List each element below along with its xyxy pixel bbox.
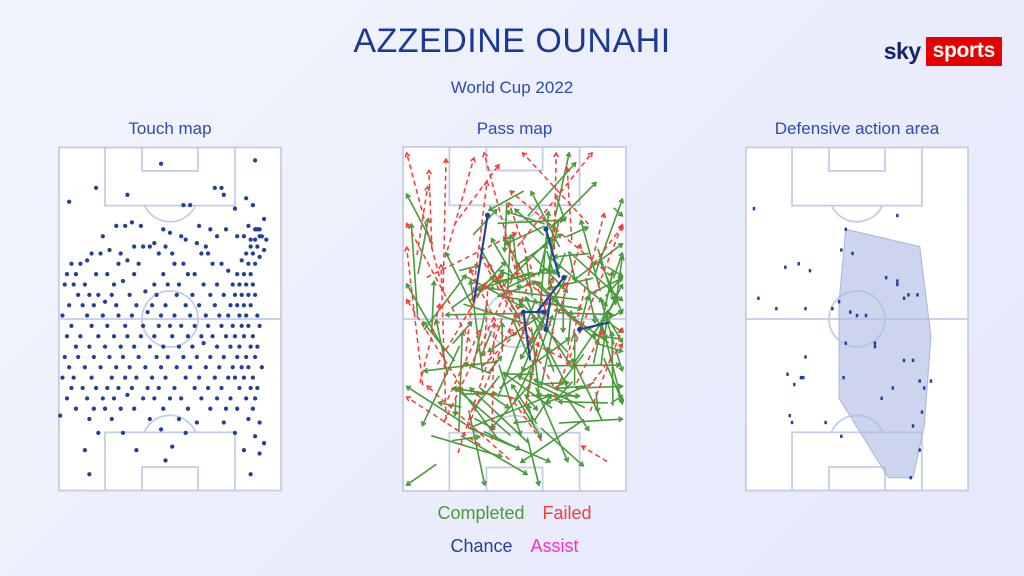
legend-item-completed: Completed	[428, 500, 533, 527]
legend-row-2: Chance Assist	[402, 533, 627, 566]
page-subtitle: World Cup 2022	[0, 78, 1024, 98]
legend-item-chance: Chance	[441, 533, 521, 560]
legend-item-assist: Assist	[522, 533, 588, 560]
panel-title-touch-map: Touch map	[58, 119, 282, 139]
logo-sports-text: sports	[926, 37, 1002, 66]
header: AZZEDINE OUNAHI World Cup 2022 sky sport…	[0, 0, 1024, 110]
logo-sky-text: sky	[884, 40, 926, 63]
defensive-action-pitch	[745, 146, 969, 497]
pass-map-legend: Completed Failed Chance Assist	[402, 500, 627, 566]
page-title: AZZEDINE OUNAHI	[0, 22, 1024, 61]
defensive-action-svg	[745, 146, 969, 492]
legend-row-1: Completed Failed	[402, 500, 627, 533]
touch-map-svg	[58, 146, 282, 492]
legend-item-failed: Failed	[534, 500, 601, 527]
touch-map-pitch	[58, 146, 282, 497]
pass-map-svg	[402, 146, 627, 492]
panel-title-defensive-action-area: Defensive action area	[745, 119, 969, 139]
panel-title-pass-map: Pass map	[402, 119, 627, 139]
sky-sports-logo: sky sports	[884, 38, 1002, 64]
pass-map-pitch	[402, 146, 627, 497]
